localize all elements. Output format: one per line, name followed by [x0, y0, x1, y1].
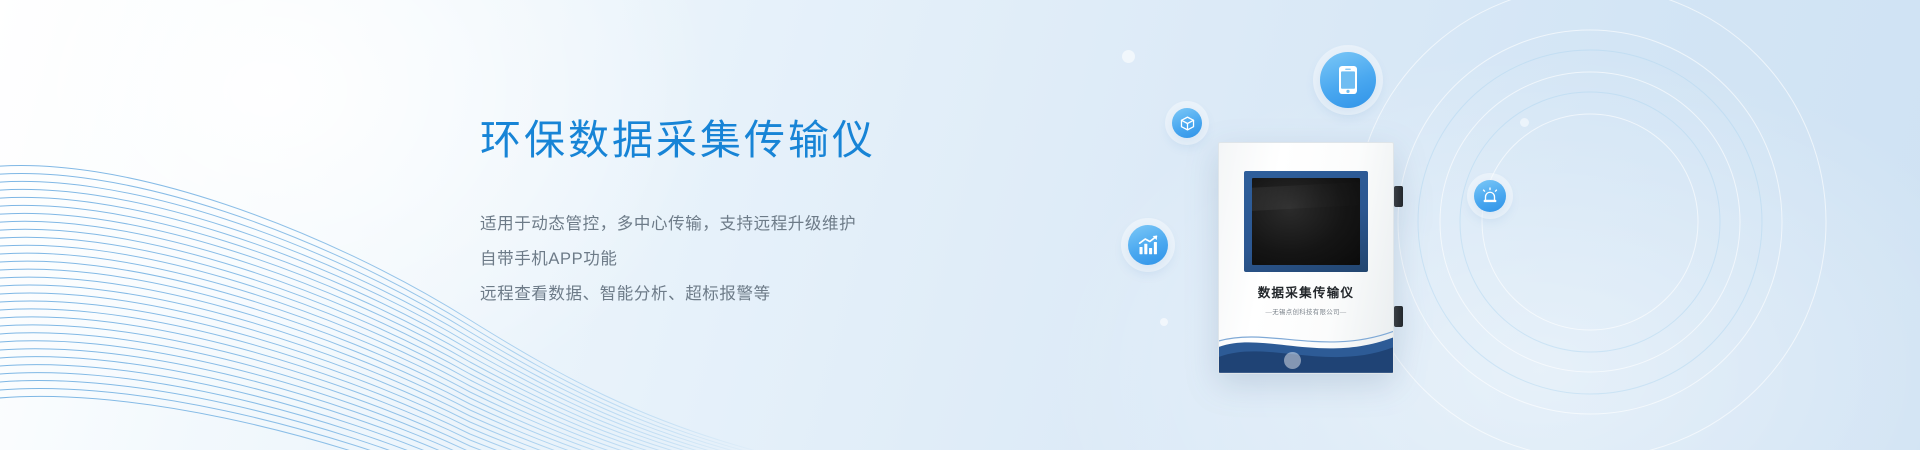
phone-icon	[1320, 52, 1376, 108]
hero-line-2: 自带手机APP功能	[480, 242, 1120, 277]
product-device-image: 数据采集传输仪 —无锡点创科技有限公司—	[1218, 142, 1394, 374]
hero-copy: 环保数据采集传输仪 适用于动态管控，多中心传输，支持远程升级维护 自带手机APP…	[480, 116, 1120, 312]
device-hinge-top	[1394, 186, 1403, 207]
chart-icon	[1128, 225, 1168, 265]
background-glow-bottom-right	[1040, 50, 1920, 450]
device-side-panel	[1394, 142, 1405, 374]
product-hero-banner: 环保数据采集传输仪 适用于动态管控，多中心传输，支持远程升级维护 自带手机APP…	[0, 0, 1920, 450]
device-footer-wave	[1219, 313, 1394, 373]
device-screen	[1252, 178, 1360, 265]
decorative-dot	[1122, 50, 1135, 63]
decorative-dot	[1284, 352, 1301, 369]
hero-description: 适用于动态管控，多中心传输，支持远程升级维护 自带手机APP功能 远程查看数据、…	[480, 207, 1120, 312]
hero-line-1: 适用于动态管控，多中心传输，支持远程升级维护	[480, 207, 1120, 242]
device-hinge-bottom	[1394, 306, 1403, 327]
decorative-dot	[1160, 318, 1168, 326]
decorative-dot	[1520, 118, 1529, 127]
device-screen-bezel	[1244, 171, 1368, 272]
device-label: 数据采集传输仪	[1219, 282, 1393, 301]
device-enclosure: 数据采集传输仪 —无锡点创科技有限公司—	[1218, 142, 1394, 374]
alarm-icon	[1474, 180, 1506, 212]
box-icon	[1172, 108, 1202, 138]
page-title: 环保数据采集传输仪	[480, 116, 1120, 165]
hero-line-3: 远程查看数据、智能分析、超标报警等	[480, 277, 1120, 312]
